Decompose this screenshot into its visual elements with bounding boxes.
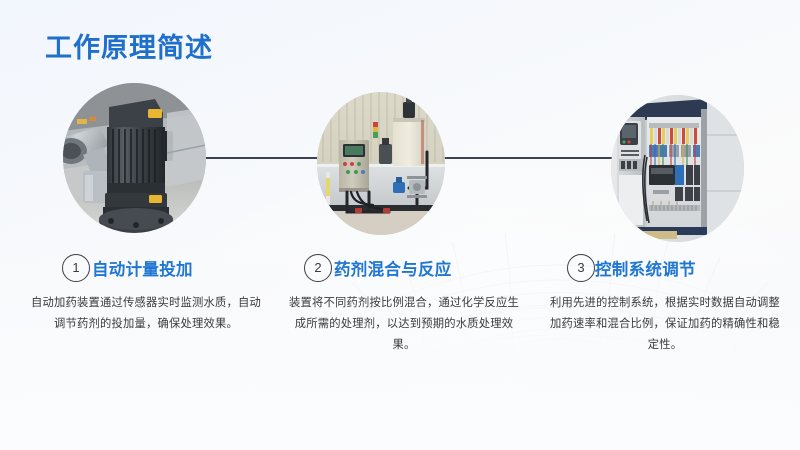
step-block-1: 1 自动计量投加 自动加药装置通过传感器实时监测水质，自动调节药剂的投加量，确保…: [30, 252, 270, 335]
step-number-2: 2: [305, 255, 331, 281]
slide-canvas: 工作原理简述: [0, 0, 800, 450]
step-photo-3: [611, 95, 744, 242]
connector-line-2-3: [436, 157, 626, 159]
page-title: 工作原理简述: [45, 32, 213, 64]
step-header-2: 2 药剂混合与反应: [288, 252, 528, 286]
step-photo-2: [317, 92, 445, 235]
step-header-1: 1 自动计量投加: [30, 252, 270, 286]
step-title-3: 控制系统调节: [595, 256, 696, 280]
step-title-1: 自动计量投加: [92, 256, 193, 280]
step-number-badge-2: 2: [304, 254, 332, 282]
step-number-badge-1: 1: [62, 254, 90, 282]
step-number-badge-3: 3: [567, 254, 595, 282]
step-body-3: 利用先进的控制系统，根据实时数据自动调整加药速率和混合比例，保证加药的精确性和稳…: [545, 293, 785, 356]
step-block-3: 3 控制系统调节 利用先进的控制系统，根据实时数据自动调整加药速率和混合比例，保…: [545, 252, 795, 356]
step-body-2: 装置将不同药剂按比例混合，通过化学反应生成所需的处理剂，以达到预期的水质处理效果…: [288, 293, 520, 356]
step-photo-1: [63, 83, 206, 233]
step-number-3: 3: [568, 255, 594, 281]
connector-line-1-2: [196, 157, 336, 159]
step-block-2: 2 药剂混合与反应 装置将不同药剂按比例混合，通过化学反应生成所需的处理剂，以达…: [288, 252, 528, 356]
step-header-3: 3 控制系统调节: [545, 252, 795, 286]
step-title-2: 药剂混合与反应: [334, 256, 452, 280]
step-number-1: 1: [63, 255, 89, 281]
step-body-1: 自动加药装置通过传感器实时监测水质，自动调节药剂的投加量，确保处理效果。: [30, 293, 262, 335]
